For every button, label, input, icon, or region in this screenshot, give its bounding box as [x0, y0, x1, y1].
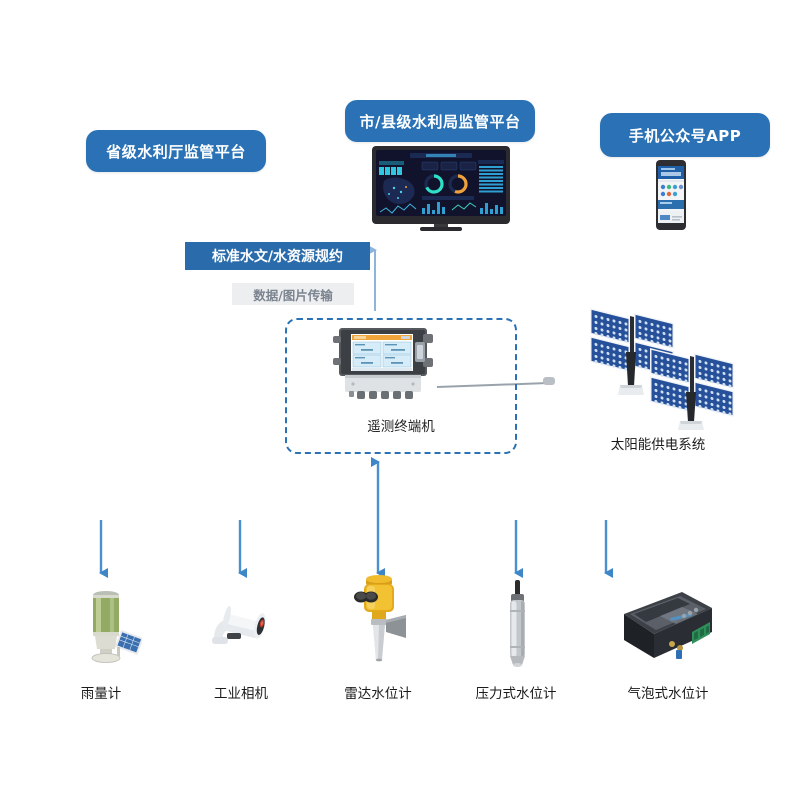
- platform-provincial-button[interactable]: 省级水利厅监管平台: [86, 130, 266, 172]
- antenna-tip: [543, 377, 555, 385]
- platform-provincial-label: 省级水利厅监管平台: [106, 141, 246, 162]
- solar-system-label: 太阳能供电系统: [611, 437, 706, 453]
- rtu-label-wrapper: 遥测终端机: [285, 415, 517, 435]
- sensor-label-rain-gauge: 雨量计: [61, 682, 141, 702]
- industrial-camera-icon: [210, 595, 272, 655]
- solar-panel-icon: [588, 298, 736, 430]
- rtu-label: 遥测终端机: [367, 419, 435, 435]
- solar-system-label-wrapper: 太阳能供电系统: [593, 433, 723, 453]
- bubbler-level-gauge-icon: [620, 586, 716, 666]
- sensor-label-camera: 工业相机: [197, 682, 285, 702]
- transfer-label: 数据/图片传输: [253, 285, 333, 304]
- platform-city-county-button[interactable]: 市/县级水利局监管平台: [345, 100, 535, 142]
- platform-city-county-label: 市/县级水利局监管平台: [360, 111, 521, 132]
- sensor-label-bubbler-level: 气泡式水位计: [610, 682, 726, 702]
- telemetry-terminal-icon: [333, 328, 437, 400]
- sensor-label-radar-level: 雷达水位计: [327, 682, 429, 702]
- platform-mobile-app-button[interactable]: 手机公众号APP: [600, 113, 770, 157]
- platform-mobile-app-label: 手机公众号APP: [629, 125, 742, 146]
- transfer-label-box: 数据/图片传输: [232, 283, 354, 305]
- protocol-label-box: 标准水文/水资源规约: [185, 242, 370, 270]
- radar-level-gauge-icon: [344, 572, 414, 667]
- protocol-label: 标准水文/水资源规约: [212, 246, 343, 266]
- sensor-label-pressure-level: 压力式水位计: [458, 682, 574, 702]
- smartphone-icon: [652, 160, 690, 230]
- pressure-level-gauge-icon: [500, 580, 536, 670]
- sensor-bubbler-level-text: 气泡式水位计: [628, 686, 709, 702]
- sensor-rain-gauge-text: 雨量计: [81, 686, 122, 702]
- sensor-camera-text: 工业相机: [214, 686, 268, 702]
- sensor-pressure-level-text: 压力式水位计: [476, 686, 557, 702]
- sensor-radar-level-text: 雷达水位计: [344, 686, 412, 702]
- monitor-icon: [368, 146, 514, 232]
- rain-gauge-icon: [78, 585, 142, 667]
